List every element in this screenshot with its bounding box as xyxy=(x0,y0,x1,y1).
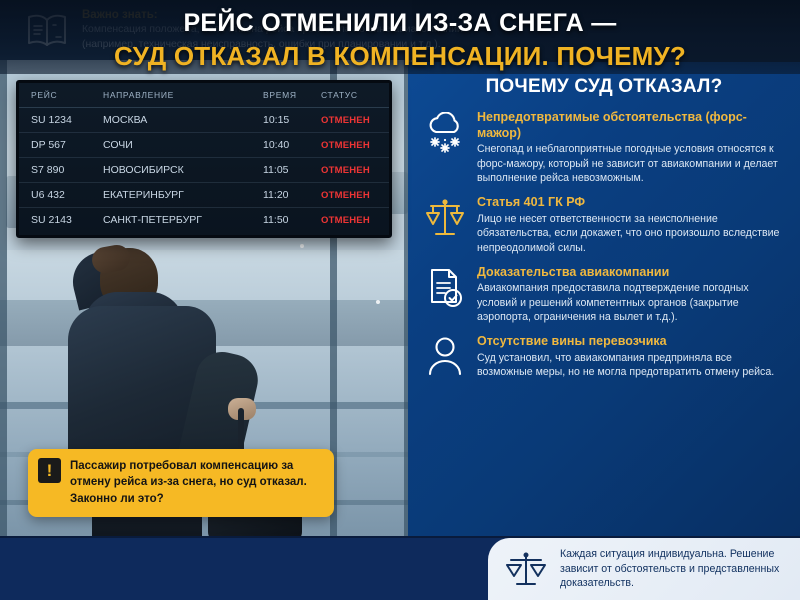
column-header-time: ВРЕМЯ xyxy=(263,90,321,100)
reason-heading: Отсутствие вины перевозчика xyxy=(477,334,786,350)
cell-destination: МОСКВА xyxy=(103,114,263,126)
column-header-status: СТАТУС xyxy=(321,90,385,100)
question-callout: ! Пассажир потребовал компенсацию за отм… xyxy=(28,449,334,517)
callout-text: Пассажир потребовал компенсацию за отмен… xyxy=(70,458,324,507)
cell-flight: U6 432 xyxy=(31,189,103,201)
cell-flight: SU 1234 xyxy=(31,114,103,126)
exclamation-glyph: ! xyxy=(47,462,53,479)
header-line-2: СУД ОТКАЗАЛ В КОМПЕНСАЦИИ. ПОЧЕМУ? xyxy=(0,38,800,72)
cell-time: 11:50 xyxy=(263,214,321,226)
snow-cloud-icon xyxy=(424,110,466,158)
flight-board-header-row: РЕЙС НАПРАВЛЕНИЕ ВРЕМЯ СТАТУС xyxy=(19,83,389,108)
reason-heading: Статья 401 ГК РФ xyxy=(477,195,786,211)
snow-fleck xyxy=(376,300,380,304)
table-row: SU 1234 МОСКВА 10:15 ОТМЕНЕН xyxy=(19,108,389,133)
footer-right: Каждая ситуация индивидуальна. Решение з… xyxy=(488,538,800,600)
reason-body: Суд установил, что авиакомпания предприн… xyxy=(477,351,786,380)
cell-time: 11:20 xyxy=(263,189,321,201)
scales-of-justice-icon xyxy=(504,547,548,591)
reason-body: Снегопад и неблагоприятные погодные усло… xyxy=(477,142,786,186)
flight-status-board: РЕЙС НАПРАВЛЕНИЕ ВРЕМЯ СТАТУС SU 1234 МО… xyxy=(16,80,392,238)
reason-item-force-majeure: Непредотвратимые обстоятельства (форс-ма… xyxy=(408,110,800,195)
reason-body: Лицо не несет ответственности за неиспол… xyxy=(477,212,786,256)
reason-item-airline-evidence: Доказательства авиакомпании Авиакомпания… xyxy=(408,265,800,334)
cell-time: 10:15 xyxy=(263,114,321,126)
status-badge: ОТМЕНЕН xyxy=(321,190,385,201)
page-header: РЕЙС ОТМЕНИЛИ ИЗ-ЗА СНЕГА — СУД ОТКАЗАЛ … xyxy=(0,0,800,74)
status-badge: ОТМЕНЕН xyxy=(321,215,385,226)
reason-item-article-401: Статья 401 ГК РФ Лицо не несет ответстве… xyxy=(408,195,800,264)
document-check-icon xyxy=(424,265,466,313)
status-badge: ОТМЕНЕН xyxy=(321,165,385,176)
status-badge: ОТМЕНЕН xyxy=(321,140,385,151)
cell-flight: S7 890 xyxy=(31,164,103,176)
cell-time: 11:05 xyxy=(263,164,321,176)
cell-time: 10:40 xyxy=(263,139,321,151)
infographic-root: РЕЙС ОТМЕНИЛИ ИЗ-ЗА СНЕГА — СУД ОТКАЗАЛ … xyxy=(0,0,800,600)
reason-text: Доказательства авиакомпании Авиакомпания… xyxy=(477,265,786,325)
column-header-flight: РЕЙС xyxy=(31,90,103,100)
window-mullion-1 xyxy=(0,60,7,536)
cell-flight: DP 567 xyxy=(31,139,103,151)
column-header-destination: НАПРАВЛЕНИЕ xyxy=(103,90,263,100)
cell-destination: НОВОСИБИРСК xyxy=(103,164,263,176)
footer-seam xyxy=(0,536,800,538)
cell-destination: САНКТ-ПЕТЕРБУРГ xyxy=(103,214,263,226)
cell-flight: SU 2143 xyxy=(31,214,103,226)
snow-fleck xyxy=(300,244,304,248)
table-row: DP 567 СОЧИ 10:40 ОТМЕНЕН xyxy=(19,133,389,158)
cell-destination: ЕКАТЕРИНБУРГ xyxy=(103,189,263,201)
reason-heading: Доказательства авиакомпании xyxy=(477,265,786,281)
footer-right-body: Каждая ситуация индивидуальна. Решение з… xyxy=(560,547,788,591)
table-row: U6 432 ЕКАТЕРИНБУРГ 11:20 ОТМЕНЕН xyxy=(19,183,389,208)
table-row: S7 890 НОВОСИБИРСК 11:05 ОТМЕНЕН xyxy=(19,158,389,183)
person-icon xyxy=(424,334,466,382)
header-line-1: РЕЙС ОТМЕНИЛИ ИЗ-ЗА СНЕГА — xyxy=(0,0,800,38)
reasons-panel: ПОЧЕМУ СУД ОТКАЗАЛ? Непредотвратимые обс… xyxy=(408,62,800,536)
scales-of-justice-icon xyxy=(424,195,466,243)
table-row: SU 2143 САНКТ-ПЕТЕРБУРГ 11:50 ОТМЕНЕН xyxy=(19,208,389,232)
reason-heading: Непредотвратимые обстоятельства (форс-ма… xyxy=(477,110,786,141)
exclamation-icon: ! xyxy=(38,458,61,483)
reason-text: Непредотвратимые обстоятельства (форс-ма… xyxy=(477,110,786,186)
reason-text: Отсутствие вины перевозчика Суд установи… xyxy=(477,334,786,382)
cell-destination: СОЧИ xyxy=(103,139,263,151)
reason-body: Авиакомпания предоставила подтверждение … xyxy=(477,281,786,325)
reason-text: Статья 401 ГК РФ Лицо не несет ответстве… xyxy=(477,195,786,255)
reason-item-no-carrier-fault: Отсутствие вины перевозчика Суд установи… xyxy=(408,334,800,391)
status-badge: ОТМЕНЕН xyxy=(321,115,385,126)
